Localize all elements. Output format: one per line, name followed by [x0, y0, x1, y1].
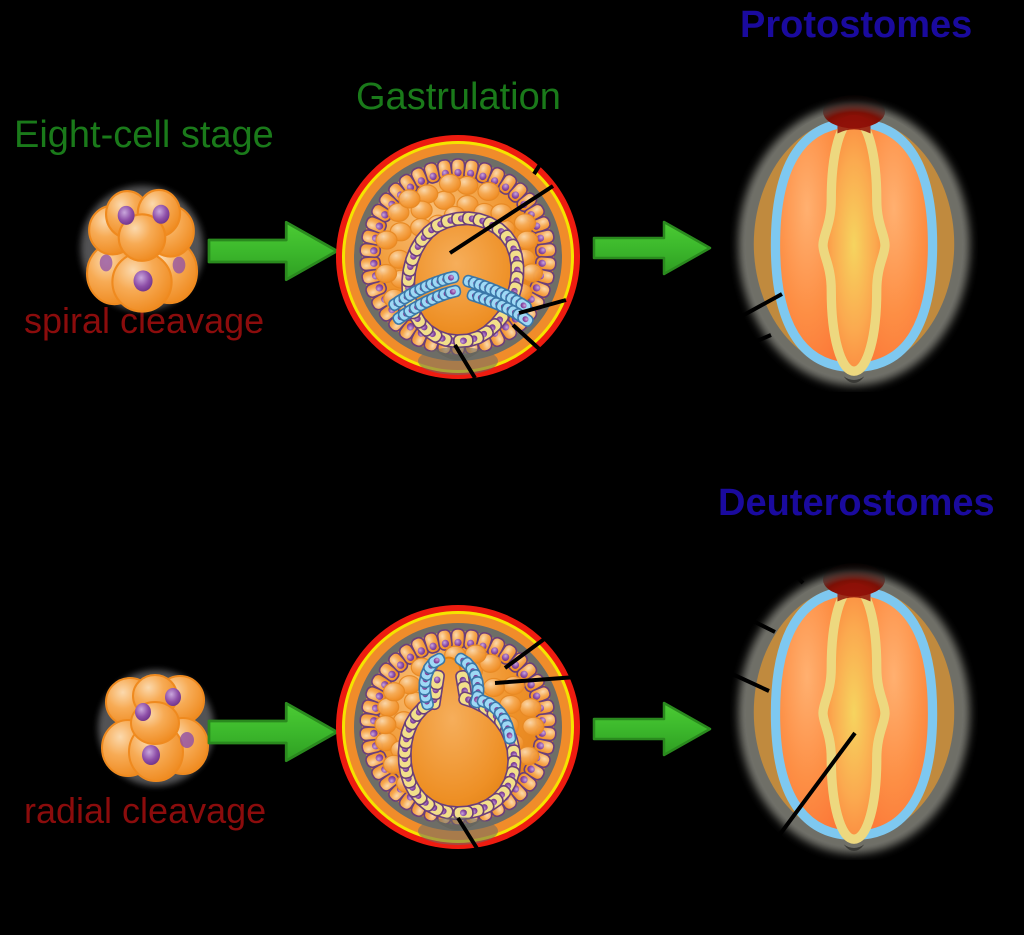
embryo-eight-cell-spiral [81, 186, 204, 312]
arrow-gastrula-to-protostome [594, 222, 710, 274]
protostome-row [81, 95, 970, 385]
adult-deuterostome-cross-section [738, 563, 969, 853]
arrow-radial-to-gastrula [209, 703, 337, 760]
diagram-canvas [0, 0, 1024, 935]
adult-protostome-cross-section [738, 95, 969, 385]
embryo-eight-cell-radial [98, 670, 214, 786]
arrow-gastrula-to-deuterostome [594, 703, 710, 755]
deuterostome-row [98, 563, 970, 853]
gastrula-protostome [336, 135, 580, 379]
arrow-spiral-to-gastrula [209, 222, 337, 279]
